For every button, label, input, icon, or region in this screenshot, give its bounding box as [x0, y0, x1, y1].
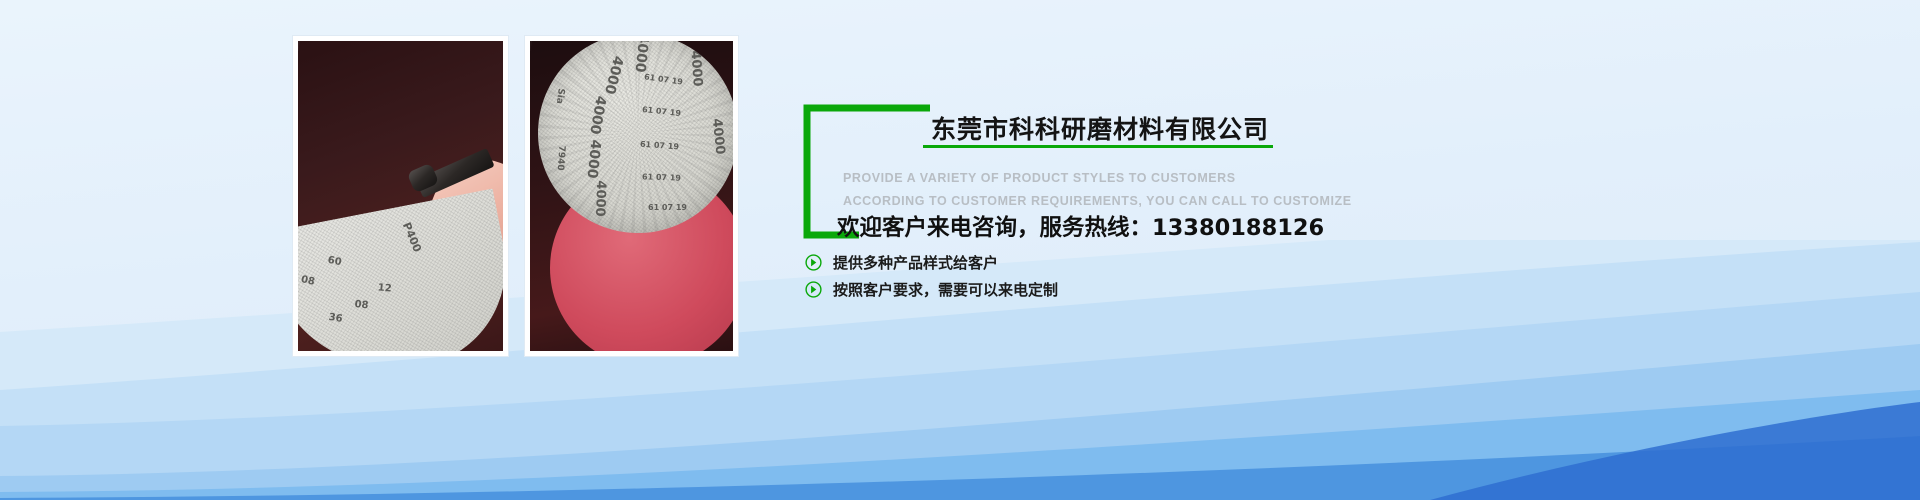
list-item-label: 按照客户要求，需要可以来电定制	[833, 279, 1058, 300]
list-item: 按照客户要求，需要可以来电定制	[805, 279, 1058, 300]
grit-mark: 36	[328, 312, 343, 325]
grit-mark: 12	[377, 282, 392, 294]
hotline-text: 欢迎客户来电咨询，服务热线：13380188126	[837, 210, 1324, 242]
abrasive-disc: 4000 4000 4000 4000 4000 4000 4000 61 07…	[538, 41, 733, 233]
grit-mark: 08	[300, 274, 316, 288]
grit-mark: 4000	[592, 180, 608, 217]
grit-mark: P400	[400, 220, 424, 254]
company-title: 东莞市科科研磨材料有限公司	[931, 110, 1269, 146]
subtitle-line-2: ACCORDING TO CUSTOMER REQUIREMENTS, YOU …	[843, 194, 1352, 208]
banner-content: 东莞市科科研磨材料有限公司 PROVIDE A VARIETY OF PRODU…	[803, 104, 1503, 404]
grit-code: 61 07 19	[648, 203, 687, 212]
title-underline	[923, 145, 1273, 148]
sandpaper-sheet-photo: P400 12 08 36 08 60	[293, 36, 508, 356]
subtitle-line-1: PROVIDE A VARIETY OF PRODUCT STYLES TO C…	[843, 171, 1236, 185]
grit-mark: 60	[327, 255, 343, 268]
circle-arrow-right-icon	[805, 254, 822, 271]
brand-mark: 7940	[555, 145, 567, 171]
circle-arrow-right-icon	[805, 281, 822, 298]
grit-mark: 08	[354, 299, 369, 312]
grit-mark: 4000	[687, 50, 704, 87]
banner-root: P400 12 08 36 08 60 4000 4000 4000 4000 …	[0, 0, 1920, 500]
grit-code: 61 07 19	[642, 172, 681, 182]
list-item: 提供多种产品样式给客户	[805, 252, 998, 273]
abrasive-disc-photo: 4000 4000 4000 4000 4000 4000 4000 61 07…	[525, 36, 738, 356]
list-item-label: 提供多种产品样式给客户	[833, 252, 998, 273]
